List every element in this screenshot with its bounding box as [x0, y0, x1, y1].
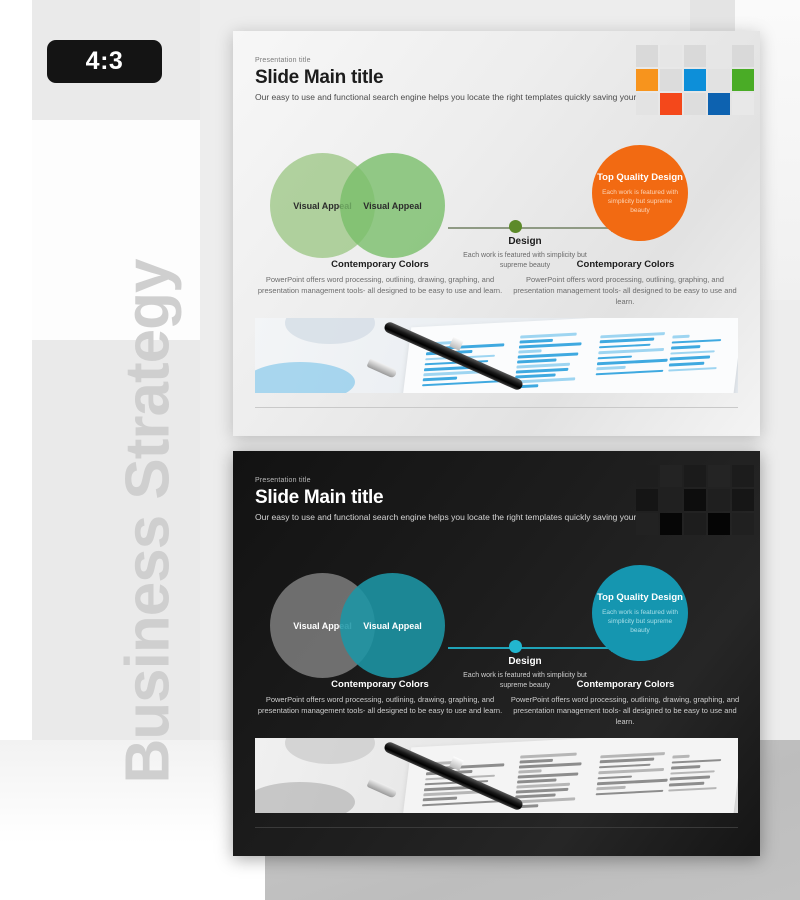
- column-body-left: PowerPoint offers word processing, outli…: [255, 274, 505, 296]
- venn-diagram: Visual Appeal Visual Appeal: [270, 573, 455, 678]
- photo-chart-bar: [516, 368, 569, 373]
- photo-chart-bar: [519, 342, 581, 348]
- photo-background-blur: [285, 318, 375, 344]
- photo-strip: [255, 318, 738, 393]
- slide-eyebrow: Presentation title: [255, 477, 311, 484]
- column-body-right: PowerPoint offers word processing, outli…: [505, 694, 745, 727]
- photo-chart-bar: [518, 772, 579, 778]
- slide-eyebrow: Presentation title: [255, 57, 311, 64]
- slide-main-title: Slide Main title: [255, 67, 383, 89]
- logo-cell-r1-c3: [684, 465, 706, 487]
- photo-chart-bar: [669, 782, 704, 786]
- vertical-title-group: Business Strategy 2Colors Template Slide: [60, 330, 200, 840]
- logo-cell-r1-c5: [732, 45, 754, 67]
- photo-chart-bar: [515, 373, 555, 378]
- logo-cell-r1-c1: [636, 465, 658, 487]
- logo-cell-r2-c2: [660, 489, 682, 511]
- photo-chart-bar: [668, 787, 716, 792]
- logo-cell-r3-c1: [636, 513, 658, 535]
- column-heading-left: Contemporary Colors: [255, 259, 505, 270]
- photo-chart-bar: [668, 367, 716, 372]
- photo-chart-bar: [672, 339, 722, 344]
- logo-cell-r1-c2: [660, 465, 682, 487]
- aspect-ratio-badge: 4:3: [47, 40, 162, 83]
- photo-chart-bar: [596, 370, 664, 376]
- photo-chart-bar: [519, 759, 553, 763]
- photo-strip: [255, 738, 738, 813]
- photo-chart-bar: [671, 345, 700, 349]
- photo-chart-bar: [670, 770, 715, 775]
- column-heading-right: Contemporary Colors: [508, 259, 743, 270]
- photo-chart-bar: [516, 788, 569, 793]
- photo-chart-bar: [598, 355, 633, 359]
- logo-cell-r3-c5: [732, 513, 754, 535]
- slide-main-title: Slide Main title: [255, 487, 383, 509]
- result-circle-caption: Each work is featured with simplicity bu…: [600, 608, 680, 635]
- photo-chart-bar: [518, 349, 541, 353]
- logo-cell-r2-c4: [708, 489, 730, 511]
- aspect-ratio-label: 4:3: [86, 47, 124, 76]
- photo-chart-bar: [520, 753, 577, 758]
- photo-chart-bar: [515, 377, 576, 383]
- footer-divider: [255, 827, 738, 828]
- logo-square-grid: [636, 45, 754, 115]
- photo-chart-bar: [600, 338, 654, 343]
- slide-subtitle: Our easy to use and functional search en…: [255, 511, 675, 523]
- photo-chart-bar: [598, 768, 664, 774]
- photo-chart-bar: [422, 380, 501, 387]
- photo-chart-bar: [600, 752, 665, 758]
- photo-chart-bar: [422, 800, 501, 807]
- photo-illustration: [255, 318, 738, 393]
- photo-chart-bar: [519, 762, 581, 768]
- photo-chart-bar: [600, 332, 665, 338]
- venn-circle-right: Visual Appeal: [340, 153, 445, 258]
- result-circle: Top Quality Design Each work is featured…: [592, 145, 688, 241]
- logo-cell-r2-c3: [684, 69, 706, 91]
- photo-chart-bar: [519, 339, 553, 343]
- photo-accent-disc: [255, 362, 355, 393]
- logo-cell-r2-c5: [732, 489, 754, 511]
- connector-label: Design: [465, 656, 585, 667]
- photo-chart-bar: [600, 758, 654, 763]
- logo-cell-r1-c4: [708, 465, 730, 487]
- footer-divider: [255, 407, 738, 408]
- photo-chart-bar: [598, 775, 633, 779]
- photo-chart-bar: [423, 377, 457, 381]
- photo-chart-bar: [423, 797, 457, 801]
- photo-chart-bar: [670, 350, 715, 355]
- logo-cell-r3-c1: [636, 93, 658, 115]
- photo-background-blur: [285, 738, 375, 764]
- logo-square-grid: [636, 465, 754, 535]
- photo-accent-disc: [255, 782, 355, 813]
- venn-circle-right-label: Visual Appeal: [363, 620, 422, 632]
- photo-chart-bar: [598, 348, 664, 354]
- logo-cell-r2-c1: [636, 69, 658, 91]
- photo-chart-bar: [672, 759, 722, 764]
- logo-cell-r2-c4: [708, 69, 730, 91]
- logo-cell-r3-c3: [684, 513, 706, 535]
- photo-pen-tip: [366, 778, 397, 798]
- result-circle-title: Top Quality Design: [597, 592, 683, 604]
- connector-line: [448, 647, 613, 649]
- venn-diagram: Visual Appeal Visual Appeal: [270, 153, 455, 258]
- connector-dot-icon: [509, 640, 522, 653]
- photo-pen-tip: [366, 358, 397, 378]
- logo-cell-r3-c4: [708, 513, 730, 535]
- logo-cell-r2-c5: [732, 69, 754, 91]
- column-heading-right: Contemporary Colors: [508, 679, 743, 690]
- photo-chart-bar: [597, 779, 668, 785]
- logo-cell-r2-c3: [684, 489, 706, 511]
- photo-chart-bar: [515, 793, 555, 798]
- connector-line: [448, 227, 613, 229]
- photo-chart-bar: [596, 366, 626, 370]
- photo-chart-bar: [518, 769, 541, 773]
- photo-chart-bar: [596, 790, 664, 796]
- logo-cell-r3-c2: [660, 93, 682, 115]
- photo-chart-bar: [669, 362, 704, 366]
- photo-chart-bar: [670, 776, 711, 781]
- column-heading-left: Contemporary Colors: [255, 679, 505, 690]
- photo-chart-bar: [596, 786, 626, 790]
- slide-preview-dark[interactable]: Presentation title Slide Main title Our …: [233, 451, 760, 856]
- slide-subtitle: Our easy to use and functional search en…: [255, 91, 675, 103]
- column-body-left: PowerPoint offers word processing, outli…: [255, 694, 505, 716]
- column-body-right: PowerPoint offers word processing, outli…: [505, 274, 745, 307]
- photo-chart-bar: [517, 358, 557, 363]
- connector-label: Design: [465, 236, 585, 247]
- photo-chart-bar: [517, 778, 557, 783]
- logo-cell-r2-c1: [636, 489, 658, 511]
- photo-chart-bar: [599, 343, 651, 348]
- logo-cell-r1-c2: [660, 45, 682, 67]
- logo-cell-r1-c4: [708, 45, 730, 67]
- logo-cell-r3-c5: [732, 93, 754, 115]
- photo-chart-bar: [597, 359, 668, 365]
- photo-chart-bar: [599, 763, 651, 768]
- logo-cell-r1-c5: [732, 465, 754, 487]
- result-circle-caption: Each work is featured with simplicity bu…: [600, 188, 680, 215]
- venn-circle-right-label: Visual Appeal: [363, 200, 422, 212]
- venn-circle-right: Visual Appeal: [340, 573, 445, 678]
- page-title: Business Strategy: [113, 284, 184, 784]
- photo-chart-bar: [672, 335, 689, 338]
- result-circle: Top Quality Design Each work is featured…: [592, 565, 688, 661]
- logo-cell-r3-c2: [660, 513, 682, 535]
- connector-dot-icon: [509, 220, 522, 233]
- photo-chart-bar: [518, 352, 579, 358]
- photo-chart-bar: [671, 765, 700, 769]
- photo-chart-bar: [672, 755, 689, 758]
- logo-cell-r1-c3: [684, 45, 706, 67]
- photo-chart-bar: [515, 797, 576, 803]
- photo-illustration: [255, 738, 738, 813]
- slide-preview-light[interactable]: Presentation title Slide Main title Our …: [233, 31, 760, 436]
- logo-cell-r3-c4: [708, 93, 730, 115]
- logo-cell-r3-c3: [684, 93, 706, 115]
- result-circle-title: Top Quality Design: [597, 172, 683, 184]
- logo-cell-r2-c2: [660, 69, 682, 91]
- logo-cell-r1-c1: [636, 45, 658, 67]
- photo-chart-bar: [670, 356, 711, 361]
- photo-chart-bar: [520, 333, 577, 338]
